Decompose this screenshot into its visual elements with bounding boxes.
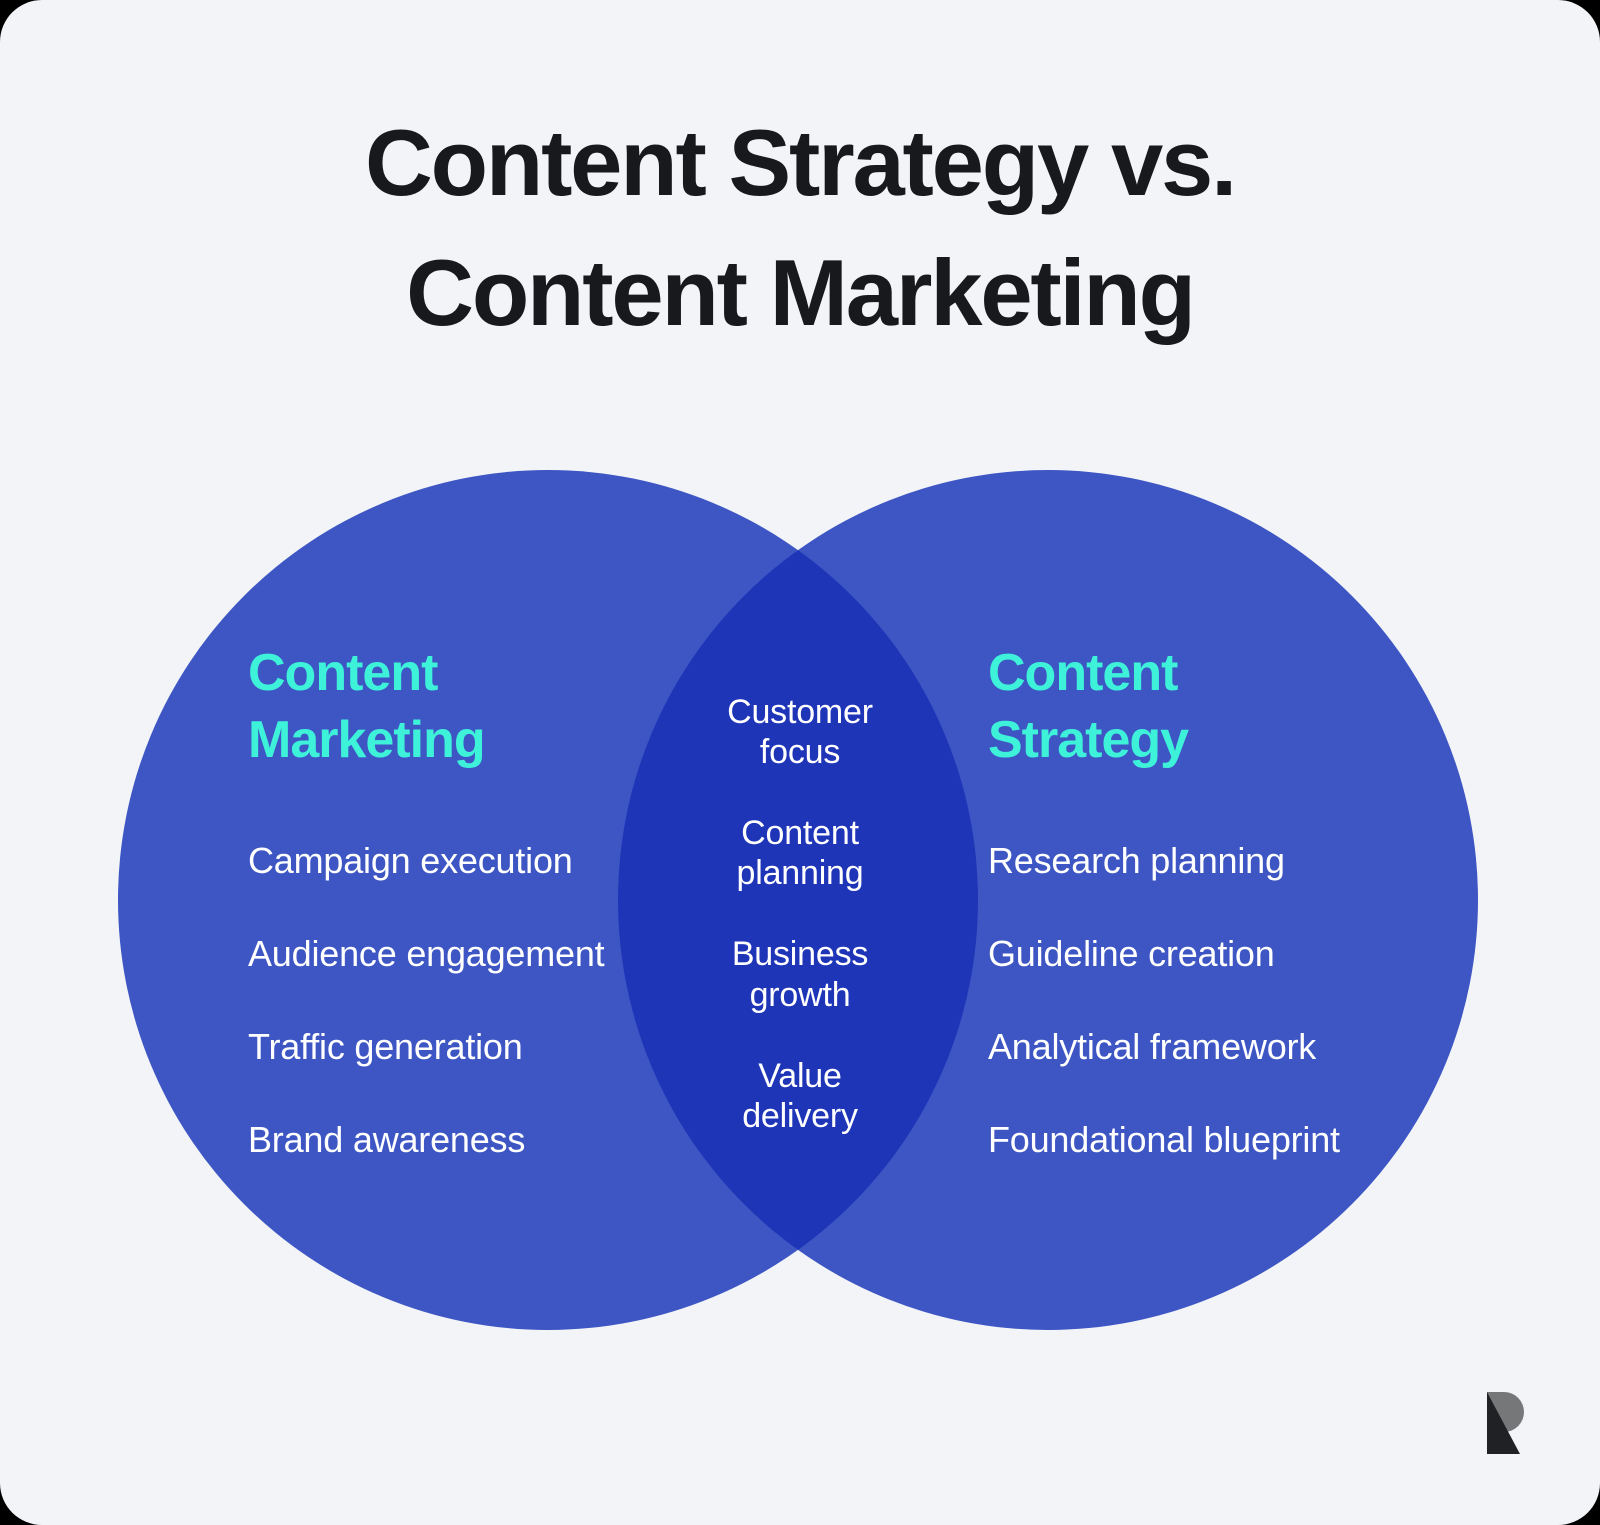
venn-intersection: Customer focus Content planning Business… [665,692,935,1177]
list-item: Guideline creation [988,932,1388,976]
list-item: Content planning [665,813,935,893]
list-item: Research planning [988,839,1388,883]
list-item: Campaign execution [248,839,628,883]
list-item: Traffic generation [248,1025,628,1069]
venn-set-right-heading: Content Strategy [988,640,1388,773]
list-item: Audience engagement [248,932,628,976]
list-item: Foundational blueprint [988,1118,1388,1162]
list-item: Business growth [665,934,935,1014]
list-item: Analytical framework [988,1025,1388,1069]
list-item: Brand awareness [248,1118,628,1162]
brand-logo-r-icon [1482,1392,1530,1454]
list-item: Value delivery [665,1056,935,1136]
venn-set-left-heading: Content Marketing [248,640,628,773]
list-item: Customer focus [665,692,935,772]
venn-set-right: Content Strategy Research planning Guide… [988,640,1388,1211]
venn-set-left: Content Marketing Campaign execution Aud… [248,640,628,1211]
infographic-card: Content Strategy vs. Content Marketing C… [0,0,1600,1525]
